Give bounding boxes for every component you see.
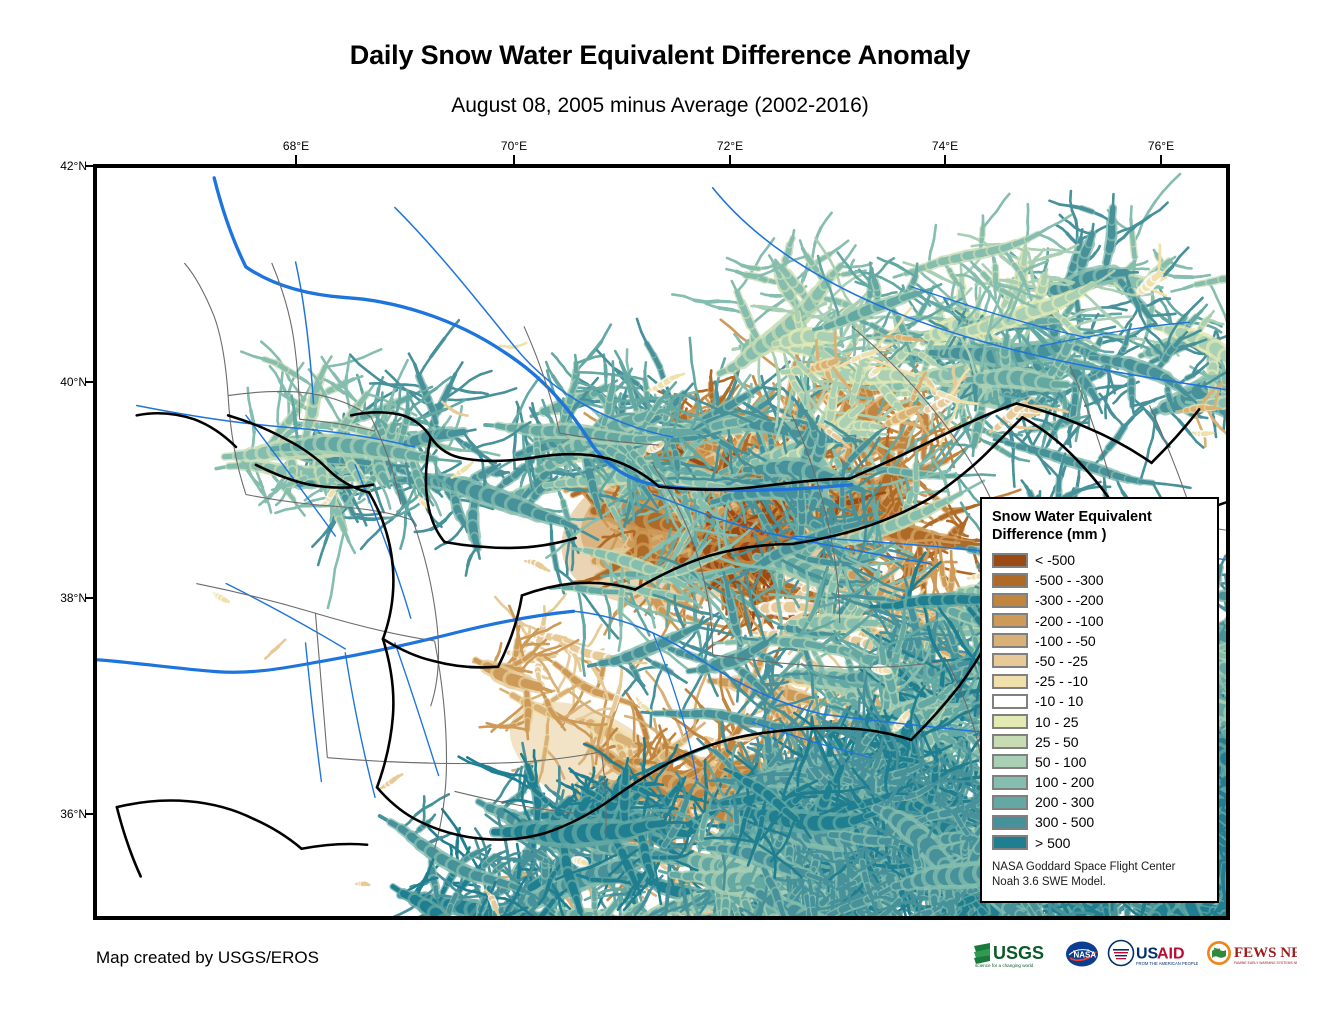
legend-entry: -200 - -100 — [992, 611, 1209, 631]
legend-swatch — [992, 734, 1028, 749]
longitude-tick — [729, 155, 731, 164]
longitude-tick-label: 72°E — [717, 139, 743, 153]
legend-entry: > 500 — [992, 833, 1209, 853]
longitude-tick — [944, 155, 946, 164]
legend-title: Snow Water Equivalent Difference (mm ) — [992, 509, 1209, 545]
legend-swatch — [992, 674, 1028, 689]
latitude-tick-label: 40°N — [57, 375, 87, 389]
legend: Snow Water Equivalent Difference (mm ) <… — [980, 497, 1219, 903]
usgs-logo[interactable]: USGS science for a changing world — [972, 939, 1058, 969]
legend-entry-label: > 500 — [1035, 835, 1070, 851]
legend-entry-label: 25 - 50 — [1035, 734, 1079, 750]
legend-entry-label: -10 - 10 — [1035, 693, 1083, 709]
legend-entry-label: -50 - -25 — [1035, 653, 1088, 669]
legend-entry: -100 - -50 — [992, 631, 1209, 651]
longitude-tick-label: 68°E — [283, 139, 309, 153]
legend-entry: 100 - 200 — [992, 772, 1209, 792]
map-frame[interactable]: Snow Water Equivalent Difference (mm ) <… — [93, 164, 1230, 920]
longitude-tick-label: 76°E — [1148, 139, 1174, 153]
legend-entry-label: < -500 — [1035, 552, 1075, 568]
legend-entry-label: -300 - -200 — [1035, 592, 1103, 608]
legend-swatch — [992, 714, 1028, 729]
legend-swatch — [992, 573, 1028, 588]
legend-source-note: NASA Goddard Space Flight Center Noah 3.… — [992, 860, 1209, 890]
legend-entries: < -500-500 - -300-300 - -200-200 - -100-… — [992, 550, 1209, 853]
legend-entry-label: 50 - 100 — [1035, 754, 1086, 770]
fews-net-logo[interactable]: FEWS NET FAMINE EARLY WARNING SYSTEMS NE… — [1205, 939, 1297, 969]
nasa-logo[interactable]: NASA — [1065, 939, 1099, 969]
latitude-tick-label: 36°N — [57, 807, 87, 821]
longitude-tick-label: 70°E — [501, 139, 527, 153]
legend-entry-label: 200 - 300 — [1035, 794, 1094, 810]
page-subtitle: August 08, 2005 minus Average (2002-2016… — [0, 94, 1320, 118]
legend-swatch — [992, 613, 1028, 628]
legend-entry-label: 300 - 500 — [1035, 814, 1094, 830]
legend-entry: -300 - -200 — [992, 590, 1209, 610]
legend-swatch — [992, 795, 1028, 810]
legend-entry: 25 - 50 — [992, 732, 1209, 752]
legend-swatch — [992, 553, 1028, 568]
legend-entry: 10 - 25 — [992, 711, 1209, 731]
longitude-tick-label: 74°E — [932, 139, 958, 153]
page-title: Daily Snow Water Equivalent Difference A… — [0, 40, 1320, 71]
legend-entry: < -500 — [992, 550, 1209, 570]
legend-swatch — [992, 653, 1028, 668]
legend-swatch — [992, 593, 1028, 608]
legend-entry-label: -100 - -50 — [1035, 633, 1096, 649]
legend-entry-label: 10 - 25 — [1035, 714, 1079, 730]
latitude-tick-label: 38°N — [57, 591, 87, 605]
legend-entry: -50 - -25 — [992, 651, 1209, 671]
legend-swatch — [992, 694, 1028, 709]
legend-swatch — [992, 775, 1028, 790]
agency-logo-bar: USGS science for a changing world NASA U… — [972, 936, 1297, 972]
longitude-tick — [1160, 155, 1162, 164]
legend-entry: -25 - -10 — [992, 671, 1209, 691]
legend-swatch — [992, 754, 1028, 769]
longitude-tick — [295, 155, 297, 164]
legend-entry: 200 - 300 — [992, 792, 1209, 812]
legend-entry: 50 - 100 — [992, 752, 1209, 772]
legend-entry-label: 100 - 200 — [1035, 774, 1094, 790]
legend-swatch — [992, 633, 1028, 648]
longitude-tick — [513, 155, 515, 164]
legend-entry: -500 - -300 — [992, 570, 1209, 590]
legend-entry-label: -500 - -300 — [1035, 572, 1103, 588]
latitude-tick-label: 42°N — [57, 159, 87, 173]
legend-entry-label: -200 - -100 — [1035, 613, 1103, 629]
map-credit: Map created by USGS/EROS — [96, 948, 319, 968]
legend-swatch — [992, 815, 1028, 830]
usaid-logo[interactable]: US AID FROM THE AMERICAN PEOPLE — [1106, 939, 1198, 969]
legend-entry: 300 - 500 — [992, 812, 1209, 832]
legend-entry: -10 - 10 — [992, 691, 1209, 711]
legend-entry-label: -25 - -10 — [1035, 673, 1088, 689]
legend-swatch — [992, 835, 1028, 850]
